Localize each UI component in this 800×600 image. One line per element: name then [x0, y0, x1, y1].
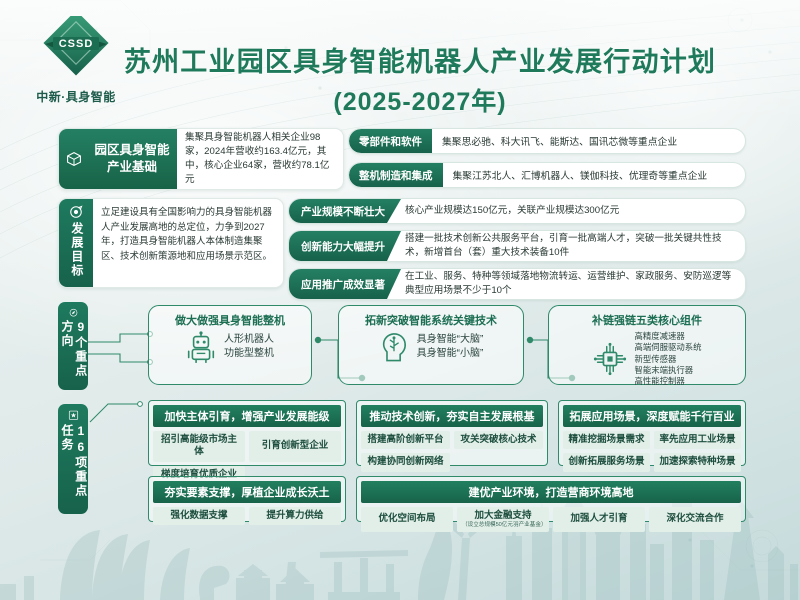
development-goals-tag: 发展目标 — [59, 199, 93, 287]
goal-row-application-label: 应用推广成效显著 — [289, 269, 401, 299]
base-row-integration-label: 整机制造和集成 — [349, 163, 443, 187]
task-item[interactable]: 加大金融支持 （设立总规模50亿元羽产业基金） — [457, 507, 549, 532]
task-card-application-scenarios-items: 精准挖掘场景需求 率先应用工业场景 创新拓展服务场景 加速探索特种场景 — [563, 431, 741, 472]
goal-row-application[interactable]: 应用推广成效显著 在工业、服务、特种等领域落地物流转运、运营维护、家政服务、安防… — [288, 268, 746, 300]
goal-row-scale-value: 核心产业规模达150亿元，关联产业规模达300亿元 — [401, 199, 745, 223]
base-row-components-value: 集聚思必驰、科大讯飞、能斯达、国讯芯微等重点企业 — [432, 134, 687, 148]
logo-caption: 中新·具身智能 — [28, 88, 124, 105]
task-card-application-scenarios[interactable]: 拓展应用场景，深度赋能千行百业 精准挖掘场景需求 率先应用工业场景 创新拓展服务… — [558, 400, 746, 466]
base-row-components-label: 零部件和软件 — [349, 129, 432, 153]
tasks-tag: 16项重点任务 — [58, 404, 88, 514]
task-card-factor-support[interactable]: 夯实要素支撑，厚植企业成长沃土 强化数据支撑 提升算力供给 — [148, 476, 346, 522]
page-title: 苏州工业园区具身智能机器人产业发展行动计划 — [120, 40, 720, 79]
task-item[interactable]: 深化交流合作 — [649, 507, 741, 532]
compass-icon — [67, 308, 80, 317]
task-card-factor-support-items: 强化数据支撑 提升算力供给 — [153, 507, 341, 525]
task-item[interactable]: 率先应用工业场景 — [654, 431, 741, 449]
title-block: 苏州工业园区具身智能机器人产业发展行动计划 (2025-2027年) — [120, 40, 720, 118]
direction-card-robots-items: 人形机器人 功能型整机 — [224, 333, 274, 362]
directions-tag: 9个重点方向 — [58, 302, 88, 390]
industry-base-summary: 集聚具身智能机器人相关企业98家，2024年营收约163.4亿元，其中，核心企业… — [177, 129, 343, 189]
base-row-components[interactable]: 零部件和软件 集聚思必驰、科大讯飞、能斯达、国讯芯微等重点企业 — [348, 128, 746, 154]
page-title-years: (2025-2027年) — [120, 82, 720, 118]
goal-row-scale-label: 产业规模不断壮大 — [289, 199, 401, 223]
direction-card-systems-items: 具身智能“大脑” 具身智能“小脑” — [417, 333, 484, 362]
task-card-factor-support-title: 夯实要素支撑，厚植企业成长沃土 — [153, 481, 341, 503]
development-goals-summary: 立足建设具有全国影响力的具身智能机器人产业发展高地的总定位，力争到2027年，打… — [93, 199, 283, 287]
direction-card-robots-title: 做大做强具身智能整机 — [157, 312, 303, 328]
industry-base-panel: 园区具身智能 产业基础 集聚具身智能机器人相关企业98家，2024年营收约163… — [58, 128, 344, 190]
task-card-tech-innovation-items: 搭建高阶创新平台 攻关突破核心技术 构建协同创新网络 — [361, 431, 543, 472]
base-row-integration[interactable]: 整机制造和集成 集聚江苏北人、汇博机器人、镁伽科技、优理奇等重点企业 — [348, 162, 746, 188]
brain-head-icon — [379, 331, 409, 363]
task-card-business-environment-title: 建优产业环境，打造营商环境高地 — [361, 481, 741, 503]
direction-card-systems-title: 拓新突破智能系统关键技术 — [347, 312, 515, 328]
development-goals-panel: 发展目标 立足建设具有全国影响力的具身智能机器人产业发展高地的总定位，力争到20… — [58, 198, 284, 288]
tasks-label: 16项重点任务 — [59, 424, 87, 506]
task-item[interactable]: 搭建高阶创新平台 — [361, 431, 450, 449]
chip-icon — [593, 342, 627, 376]
task-card-entity-cultivation[interactable]: 加快主体引育，增强产业发展能级 招引高能级市场主体 引育创新型企业 梯度培育优质… — [148, 400, 346, 466]
cube-icon — [66, 151, 82, 167]
task-item[interactable]: 加强人才引育 — [553, 507, 645, 532]
target-icon — [69, 205, 83, 219]
task-item[interactable]: 精准挖掘场景需求 — [563, 431, 650, 449]
task-item[interactable]: 优化空间布局 — [361, 507, 453, 532]
goal-row-innovation-label: 创新能力大幅提升 — [289, 231, 401, 261]
tasks-connector-lines — [86, 398, 156, 468]
direction-card-components-title: 补链强链五类核心组件 — [557, 312, 737, 328]
task-card-tech-innovation-title: 推动技术创新，夯实自主发展根基 — [361, 405, 543, 427]
logo: CSSD 中新·具身智能 — [28, 16, 124, 108]
task-item[interactable]: 招引高能级市场主体 — [153, 431, 245, 462]
direction-card-systems-body: 具身智能“大脑” 具身智能“小脑” — [347, 331, 515, 363]
direction-card-robots[interactable]: 做大做强具身智能整机 人形机器人 功能型整机 — [148, 305, 312, 385]
development-goals-label: 发展目标 — [69, 222, 83, 278]
industry-base-label: 园区具身智能 产业基础 — [59, 129, 177, 189]
task-item[interactable]: 提升算力供给 — [249, 507, 341, 525]
goal-row-innovation-value: 搭建一批技术创新公共服务平台，引育一批高端人才，突破一批关键共性技术，新增首台（… — [401, 231, 745, 261]
direction-card-components[interactable]: 补链强链五类核心组件 高精度减速器 高端伺服驱动系统 新型传感器 智能末端执行器… — [548, 305, 746, 385]
direction-card-components-body: 高精度减速器 高端伺服驱动系统 新型传感器 智能末端执行器 高性能控制器 — [557, 331, 737, 388]
base-row-integration-value: 集聚江苏北人、汇博机器人、镁伽科技、优理奇等重点企业 — [443, 168, 718, 182]
goal-row-scale[interactable]: 产业规模不断壮大 核心产业规模达150亿元，关联产业规模达300亿元 — [288, 198, 746, 224]
svg-text:CSSD: CSSD — [59, 38, 94, 50]
direction-card-systems[interactable]: 拓新突破智能系统关键技术 具身智能“大脑” 具身智能“小脑” — [338, 305, 524, 385]
task-item[interactable]: 构建协同创新网络 — [361, 453, 450, 471]
goal-row-innovation[interactable]: 创新能力大幅提升 搭建一批技术创新公共服务平台，引育一批高端人才，突破一批关键共… — [288, 230, 746, 262]
cssd-diamond-logo-icon: CSSD — [39, 16, 113, 86]
robot-icon — [186, 331, 216, 363]
page-header: CSSD 中新·具身智能 苏州工业园区具身智能机器人产业发展行动计划 (2025… — [0, 0, 800, 118]
task-item[interactable]: 引育创新型企业 — [249, 431, 341, 462]
direction-card-robots-body: 人形机器人 功能型整机 — [157, 331, 303, 363]
goal-row-application-value: 在工业、服务、特种等领域落地物流转运、运营维护、家政服务、安防巡逻等典型应用场景… — [401, 269, 745, 299]
task-item[interactable]: 创新拓展服务场景 — [563, 453, 650, 471]
task-item[interactable]: 加速探索特种场景 — [654, 453, 741, 471]
task-item-note: （设立总规模50亿元羽产业基金） — [462, 522, 544, 529]
task-card-business-environment[interactable]: 建优产业环境，打造营商环境高地 优化空间布局 加大金融支持 （设立总规模50亿元… — [356, 476, 746, 522]
task-card-application-scenarios-title: 拓展应用场景，深度赋能千行百业 — [563, 405, 741, 427]
industry-base-label-text: 园区具身智能 产业基础 — [87, 142, 177, 176]
task-card-business-environment-items: 优化空间布局 加大金融支持 （设立总规模50亿元羽产业基金） 加强人才引育 深化… — [361, 507, 741, 532]
star-icon — [67, 410, 80, 421]
task-item[interactable]: 攻关突破核心技术 — [454, 431, 543, 449]
task-card-tech-innovation[interactable]: 推动技术创新，夯实自主发展根基 搭建高阶创新平台 攻关突破核心技术 构建协同创新… — [356, 400, 548, 466]
direction-card-components-items: 高精度减速器 高端伺服驱动系统 新型传感器 智能末端执行器 高性能控制器 — [635, 331, 702, 388]
task-item[interactable]: 强化数据支撑 — [153, 507, 245, 525]
task-card-entity-cultivation-title: 加快主体引育，增强产业发展能级 — [153, 405, 341, 427]
directions-label: 9个重点方向 — [59, 320, 87, 382]
